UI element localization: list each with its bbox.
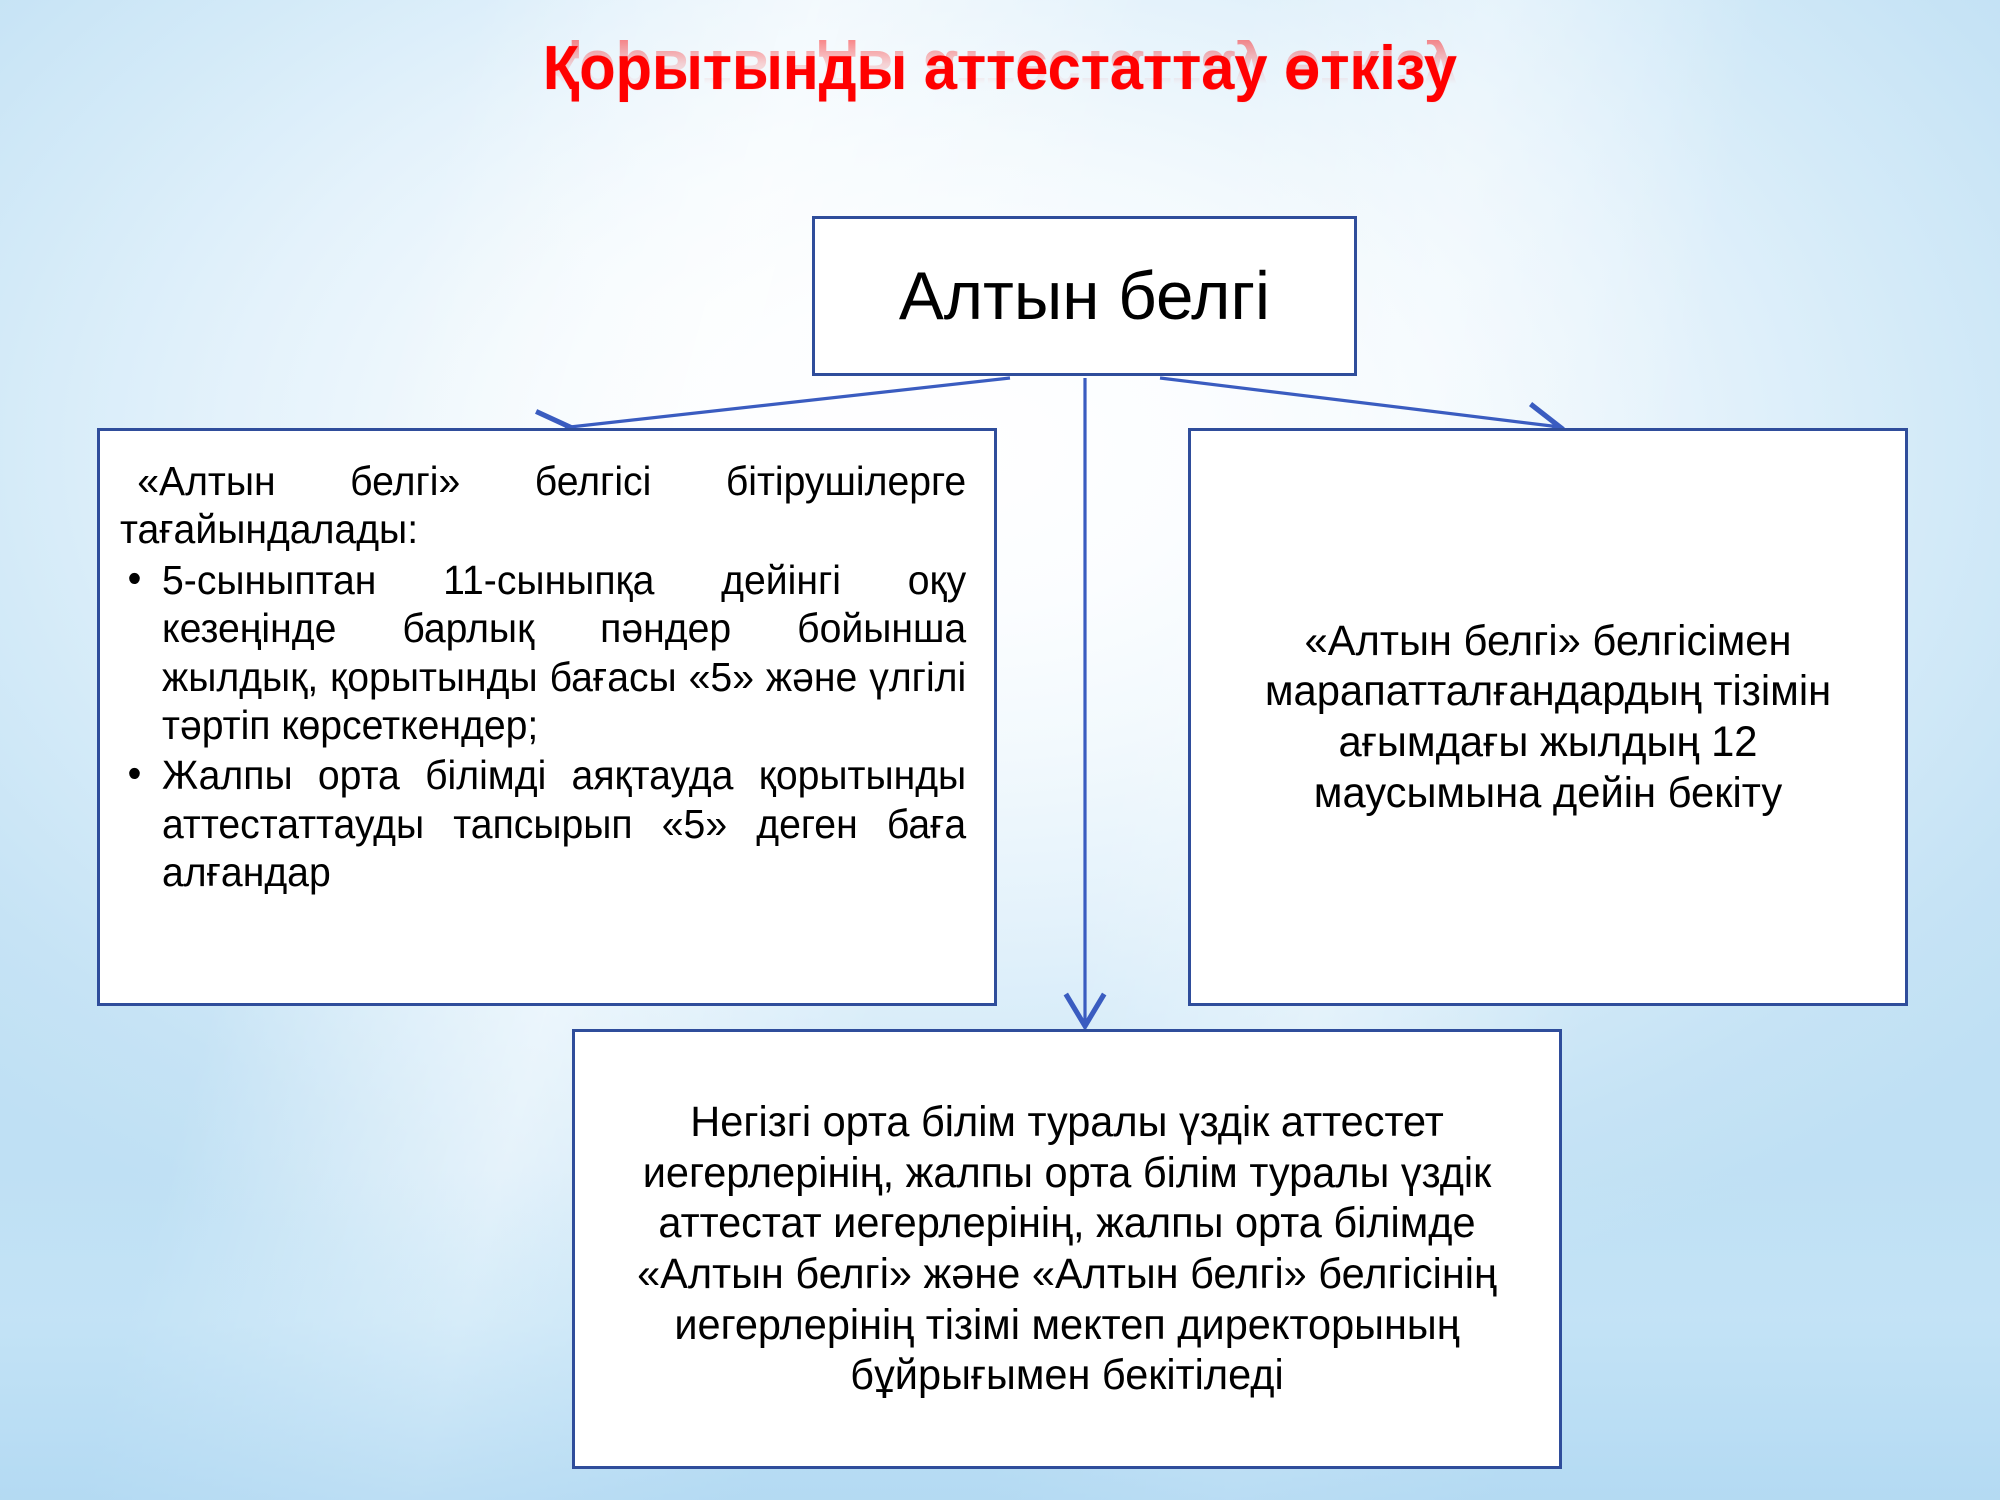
- list-item: 5-сыныптан 11-сыныпқа дейінгі оқу кезеңі…: [120, 556, 966, 750]
- diagram-node-top: Алтын белгі: [812, 216, 1357, 376]
- list-item: Жалпы орта білімді аяқтауда қорытынды ат…: [120, 751, 966, 896]
- left-node-intro: «Алтын белгі» белгісі бітірушілерге таға…: [120, 457, 966, 554]
- right-node-text: «Алтын белгі» белгісімен марапатталғанда…: [1219, 616, 1877, 819]
- slide-canvas: Қорытынды аттестаттау өткізу Қорытынды а…: [0, 0, 2000, 1500]
- diagram-node-left: «Алтын белгі» белгісі бітірушілерге таға…: [97, 428, 997, 1006]
- diagram-node-right: «Алтын белгі» белгісімен марапатталғанда…: [1188, 428, 1908, 1006]
- diagram-node-bottom: Негізгі орта білім туралы үздік аттестет…: [572, 1029, 1562, 1469]
- connector-top-to-right: [1160, 378, 1560, 427]
- bottom-node-text: Негізгі орта білім туралы үздік аттестет…: [617, 1097, 1516, 1401]
- page-title-reflection: Қорытынды аттестаттау өткізу: [40, 40, 1960, 102]
- connector-top-to-left: [570, 378, 1010, 427]
- slide-title-block: Қорытынды аттестаттау өткізу Қорытынды а…: [0, 38, 2000, 164]
- diagram-node-top-label: Алтын белгі: [899, 256, 1270, 336]
- left-node-bullet-list: 5-сыныптан 11-сыныпқа дейінгі оқу кезеңі…: [120, 556, 966, 897]
